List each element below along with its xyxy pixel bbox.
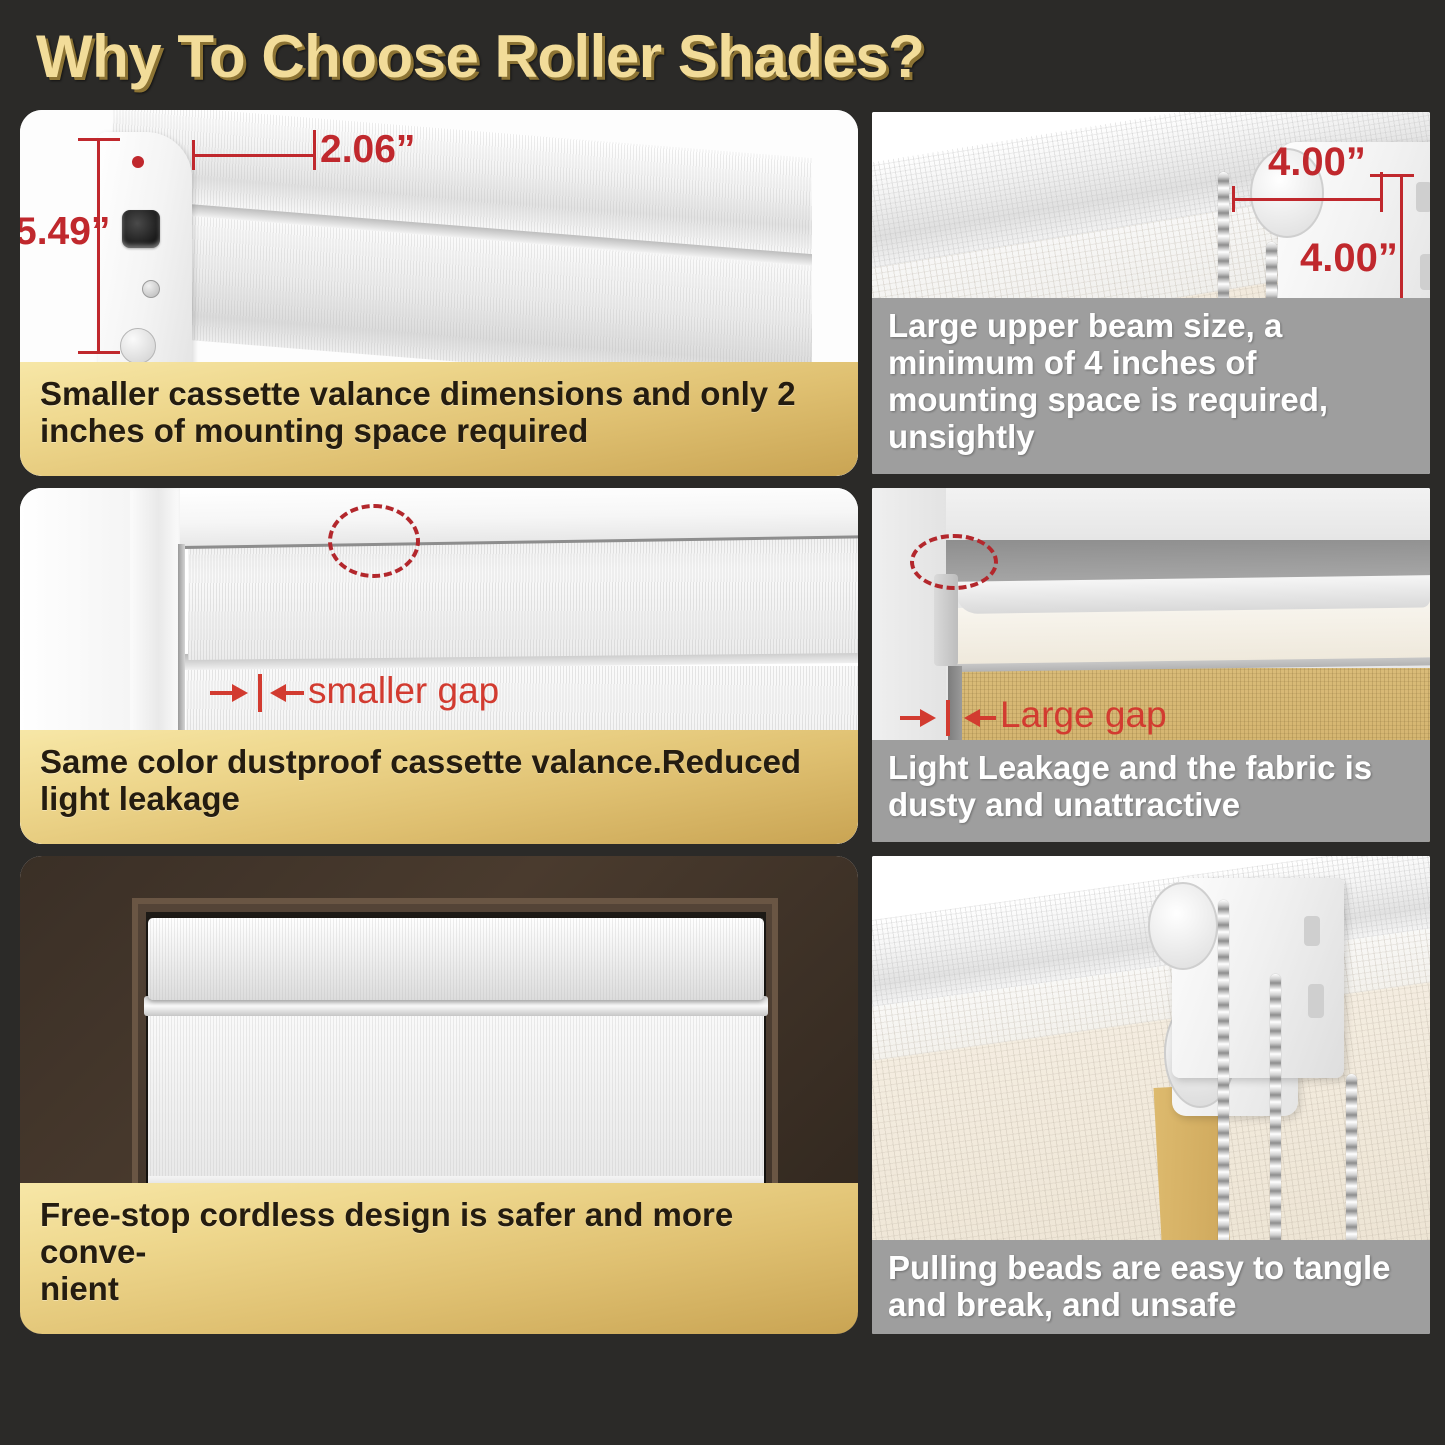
highlight-ellipse-icon <box>328 504 420 578</box>
cassette-texture <box>188 533 858 660</box>
height-dimension-tick-bottom <box>78 351 120 354</box>
panel-5-caption-line2: nient <box>40 1271 838 1308</box>
measure-origin-dot <box>132 156 144 168</box>
bracket-slot-upper <box>1304 916 1320 946</box>
panel-light-leakage: Large gap Light Leakage and the fabric i… <box>872 488 1430 842</box>
end-cap-screw <box>142 280 160 298</box>
width-dimension-label: 4.00” <box>1268 140 1366 185</box>
panel-2-caption: Large upper beam size, a minimum of 4 in… <box>872 298 1430 474</box>
bracket-slot-lower <box>1308 984 1324 1018</box>
fabric-texture <box>148 1012 764 1184</box>
panel-5-caption: Free-stop cordless design is safer and m… <box>20 1183 858 1334</box>
ceiling-surface <box>872 488 1430 540</box>
valance-texture <box>148 918 764 1000</box>
end-cap-slot <box>122 210 160 248</box>
width-dimension-line <box>1232 198 1382 201</box>
panel-cordless-design: Free-stop cordless design is safer and m… <box>20 856 858 1334</box>
panel-pulling-beads: Pulling beads are easy to tangle and bre… <box>872 856 1430 1334</box>
cassette-valance <box>148 918 764 1000</box>
width-dimension-label: 2.06” <box>320 128 415 172</box>
width-dimension-tick-right <box>313 130 316 170</box>
page-title: Why To Choose Roller Shades? <box>36 22 924 91</box>
width-dimension-line <box>192 154 316 157</box>
smaller-gap-label: smaller gap <box>308 670 499 712</box>
end-cap-lower-screw <box>120 328 156 364</box>
cassette-valance <box>188 533 858 660</box>
panel-3-caption: Same color dustproof cassette valance.Re… <box>20 730 858 844</box>
height-dimension-tick-top <box>78 138 120 141</box>
panel-dustproof-cassette: smaller gap Same color dustproof cassett… <box>20 488 858 844</box>
height-dimension-label: 5.49” <box>20 210 110 254</box>
width-dimension-tick-right <box>1380 172 1383 212</box>
panel-6-caption: Pulling beads are easy to tangle and bre… <box>872 1240 1430 1334</box>
width-dimension-tick-left <box>1232 186 1235 212</box>
gap-arrow-left-stem <box>210 691 234 695</box>
bracket-slot-upper <box>1416 182 1430 212</box>
gap-arrow-right-stem <box>284 691 304 695</box>
gap-arrow-right-stem <box>978 716 996 720</box>
height-dimension-tick-top <box>1370 174 1414 177</box>
gap-marker-bar <box>946 700 950 736</box>
panel-smaller-cassette: 2.06” 5.49” Smaller cassette valance dim… <box>20 110 858 476</box>
height-dimension-label: 4.00” <box>1300 236 1398 281</box>
width-dimension-tick-left <box>192 140 195 170</box>
valance-end-cap <box>98 132 192 380</box>
panel-1-caption: Smaller cassette valance dimensions and … <box>20 362 858 476</box>
highlight-ellipse-icon <box>910 534 998 590</box>
bracket-slot-lower <box>1420 254 1430 290</box>
gap-arrow-right-icon <box>232 684 248 702</box>
panel-large-upper-beam: 4.00” 4.00” Large upper beam size, a min… <box>872 112 1430 474</box>
gap-arrow-right-icon <box>920 709 936 727</box>
upper-end-cap <box>1148 882 1218 970</box>
valance-body <box>112 110 812 390</box>
gap-arrow-left-stem <box>900 716 922 720</box>
panel-5-caption-line1: Free-stop cordless design is safer and m… <box>40 1197 838 1271</box>
roller-shade-fabric <box>148 1012 764 1184</box>
panel-4-caption: Light Leakage and the fabric is dusty an… <box>872 740 1430 842</box>
large-gap-label: Large gap <box>1000 694 1167 736</box>
gap-marker-bar <box>258 674 262 712</box>
